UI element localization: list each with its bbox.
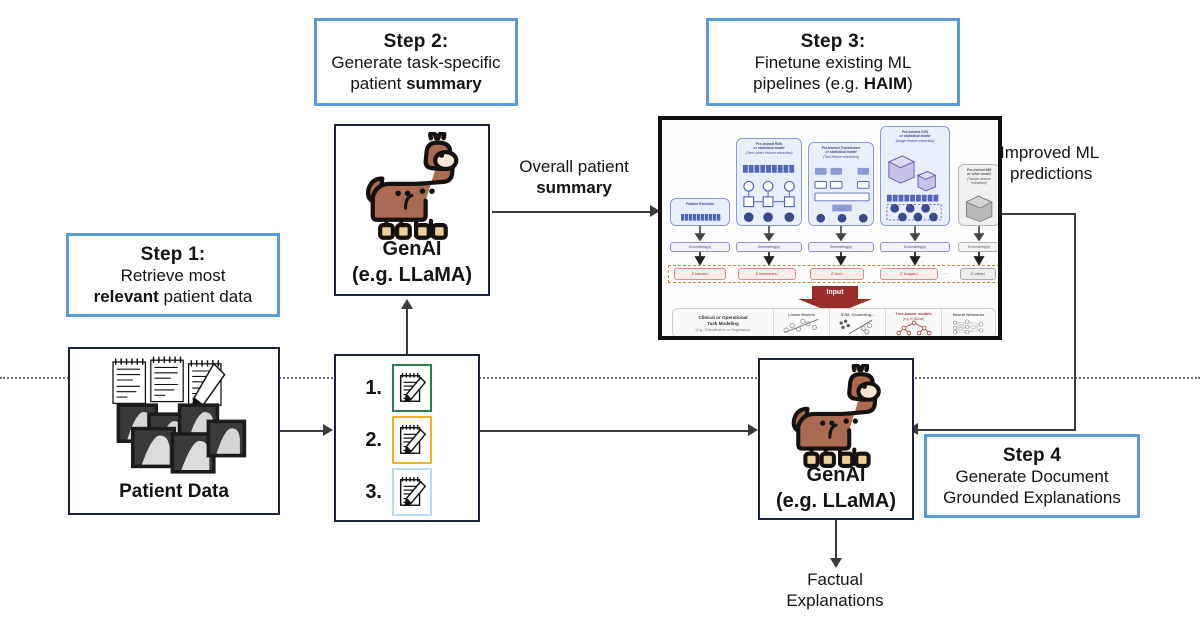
haim-embedding-to-vector-arrows: [662, 252, 998, 266]
edge-overall-summary-label: Overall patient summary: [494, 157, 654, 198]
haim-module-transformer: Pre-trained Transformer or statistical m…: [808, 142, 874, 226]
haim-task-title-sub: (e.g., Classification or Regression): [696, 328, 751, 332]
genai-summarizer-model: (e.g. LLaMA): [336, 264, 488, 287]
step-3-line-2-rest: pipelines (e.g.: [753, 74, 864, 93]
haim-input-arrow-label: Input: [790, 289, 880, 296]
list-item[interactable]: 3.: [362, 468, 432, 516]
edge-improved-predictions-label: Improved ML predictions: [1000, 143, 1160, 184]
haim-task-column-svm: SVM, Clustering...: [829, 309, 885, 336]
haim-embedding-tabular: E tabular,i: [674, 268, 726, 280]
edge-list-to-genai-summarizer: [406, 308, 408, 354]
edge-list-to-genai-explainer: [480, 430, 752, 432]
edge-list-to-genai-summarizer-arrowhead: [401, 299, 413, 309]
llama-icon: [774, 364, 902, 470]
step-1-line-2-emphasis: relevant: [94, 287, 159, 306]
haim-embedding-label: Embedding(s): [880, 242, 950, 252]
haim-module-rnn-caption-l3: (Time-series feature extraction): [745, 151, 792, 155]
factual-explanations-line-2: Explanations: [735, 591, 935, 612]
haim-module-other-caption-l3: (Tabular feature extraction): [967, 177, 991, 185]
llama-icon: [350, 132, 478, 242]
step-4-line-2: Grounded Explanations: [943, 488, 1121, 509]
step-1-line-2-rest: patient data: [159, 287, 253, 306]
edge-factual-explanations-arrowhead: [830, 558, 842, 568]
patient-records-and-xray-stack-icon: [70, 353, 282, 479]
edge-predictions-vertical: [1074, 213, 1076, 430]
edge-improved-predictions-line-1: Improved ML: [1000, 143, 1160, 164]
haim-task-modeling-panel: Clinical or Operational Task Modeling (e…: [672, 308, 996, 336]
diagram-canvas: Step 1: Retrieve most relevant patient d…: [0, 0, 1200, 630]
list-item[interactable]: 2.: [362, 416, 432, 464]
haim-embedding-images: E images,i: [880, 268, 938, 280]
step-2-line-2-emphasis: summary: [406, 74, 482, 93]
haim-module-rnn-caption: Pre-trained RNN or statistical model (Ti…: [739, 142, 799, 155]
edge-patientdata-to-list: [280, 430, 324, 432]
haim-module-rnn: Pre-trained RNN or statistical model (Ti…: [736, 138, 802, 226]
haim-module-other: Pre-trained MM or other model (Tabular f…: [958, 164, 998, 226]
haim-task-column-nn: Neural Networks: [941, 309, 995, 336]
genai-summarizer-name: GenAI: [336, 238, 488, 261]
step-3-callout: Step 3: Finetune existing ML pipelines (…: [706, 18, 960, 106]
haim-module-transformer-caption: Pre-trained Transformer or statistical m…: [811, 146, 871, 159]
haim-embedding-label: Embedding(s): [808, 242, 874, 252]
factual-explanations-label: Factual Explanations: [735, 570, 935, 611]
haim-task-modeling-title: Clinical or Operational Task Modeling (e…: [677, 315, 769, 333]
haim-module-cnn-caption-l3: (Image feature extraction): [896, 139, 935, 143]
step-2-callout: Step 2: Generate task-specific patient s…: [314, 18, 518, 106]
list-item-number: 2.: [362, 429, 382, 452]
edge-predictions-to-genai-explainer: [916, 429, 1076, 431]
list-item-number: 1.: [362, 377, 382, 400]
step-3-title: Step 3:: [801, 30, 866, 53]
haim-task-title-l1: Clinical or Operational: [698, 315, 747, 320]
haim-feature-extractor-caption: Feature Extractor: [673, 202, 727, 206]
step-3-line-1: Finetune existing ML: [755, 53, 912, 74]
step-3-line-2: pipelines (e.g. HAIM): [753, 74, 913, 95]
step-3-line-2-tail: ): [907, 74, 913, 93]
factual-explanations-line-1: Factual: [735, 570, 935, 591]
genai-explainer-box: GenAI (e.g. LLaMA): [758, 358, 914, 520]
edge-haim-to-predictions-segment-top: [1000, 213, 1076, 215]
retrieved-documents-box: 1.: [334, 354, 480, 522]
edge-improved-predictions-line-2: predictions: [1000, 164, 1160, 185]
haim-module-cnn-caption: Pre-trained CNN or statistical model (Im…: [883, 130, 947, 143]
edge-genai-to-factual-explanations: [835, 520, 837, 562]
step-1-title: Step 1:: [141, 243, 206, 266]
haim-task-title-l2: Task Modeling: [707, 321, 739, 326]
notepad-pencil-icon: [392, 468, 432, 516]
step-1-callout: Step 1: Retrieve most relevant patient d…: [66, 233, 280, 317]
haim-task-column-nn-caption: Neural Networks: [942, 312, 995, 317]
genai-summarizer-box: GenAI (e.g. LLaMA): [334, 124, 490, 296]
step-2-line-2-rest: patient: [350, 74, 406, 93]
haim-module-transformer-caption-l3: (Text feature extraction): [823, 155, 859, 159]
haim-task-column-linear-caption: Linear Models: [774, 312, 829, 317]
haim-task-column-svm-caption: SVM, Clustering...: [830, 312, 885, 317]
patient-data-label: Patient Data: [70, 481, 278, 503]
haim-task-column-linear: Linear Models: [773, 309, 829, 336]
step-3-line-2-emphasis: HAIM: [864, 74, 907, 93]
patient-data-box: Patient Data: [68, 347, 280, 515]
haim-embedding-text: E text,i: [810, 268, 864, 280]
step-2-title: Step 2:: [384, 30, 449, 53]
list-item-number: 3.: [362, 481, 382, 504]
haim-embedding-label: Embedding(s): [958, 242, 998, 252]
haim-module-cnn: Pre-trained CNN or statistical model (Im…: [880, 126, 950, 226]
step-4-title: Step 4: [1003, 444, 1061, 467]
haim-feature-extractor-module: Feature Extractor: [670, 198, 730, 226]
genai-explainer-model: (e.g. LLaMA): [760, 490, 912, 513]
step-4-line-1: Generate Document: [955, 467, 1108, 488]
edge-genai-to-haim: [492, 211, 654, 213]
step-1-line-2: relevant patient data: [94, 287, 253, 308]
notepad-pencil-icon: [392, 364, 432, 412]
step-4-callout: Step 4 Generate Document Grounded Explan…: [924, 434, 1140, 518]
haim-embedding-label: Embedding(s): [736, 242, 802, 252]
haim-embedding-ellipsis: ....: [942, 270, 948, 276]
edge-list-to-genai-explainer-arrowhead: [748, 424, 758, 436]
haim-module-other-caption: Pre-trained MM or other model (Tabular f…: [961, 168, 997, 185]
haim-embedding-timeseries: E timeseries,i: [738, 268, 796, 280]
haim-embedding-label: Embedding(s): [670, 242, 730, 252]
step-1-line-1: Retrieve most: [121, 266, 226, 287]
edge-overall-summary-line-1: Overall patient: [494, 157, 654, 178]
step-2-line-1: Generate task-specific: [331, 53, 500, 74]
notepad-pencil-icon: [392, 416, 432, 464]
haim-task-column-tree-caption-l1: Tree-based models: [895, 311, 931, 316]
haim-embedding-other: E other,i: [960, 268, 996, 280]
genai-explainer-name: GenAI: [760, 464, 912, 487]
list-item[interactable]: 1.: [362, 364, 432, 412]
edge-overall-summary-line-2: summary: [536, 178, 612, 197]
step-2-line-2: patient summary: [350, 74, 481, 95]
edge-patientdata-to-list-arrowhead: [323, 424, 333, 436]
haim-pipeline-figure: Feature Extractor Pre-trained RNN or sta…: [658, 116, 1002, 340]
haim-task-column-tree: Tree-based models (e.g. XGBoost): [885, 309, 941, 336]
